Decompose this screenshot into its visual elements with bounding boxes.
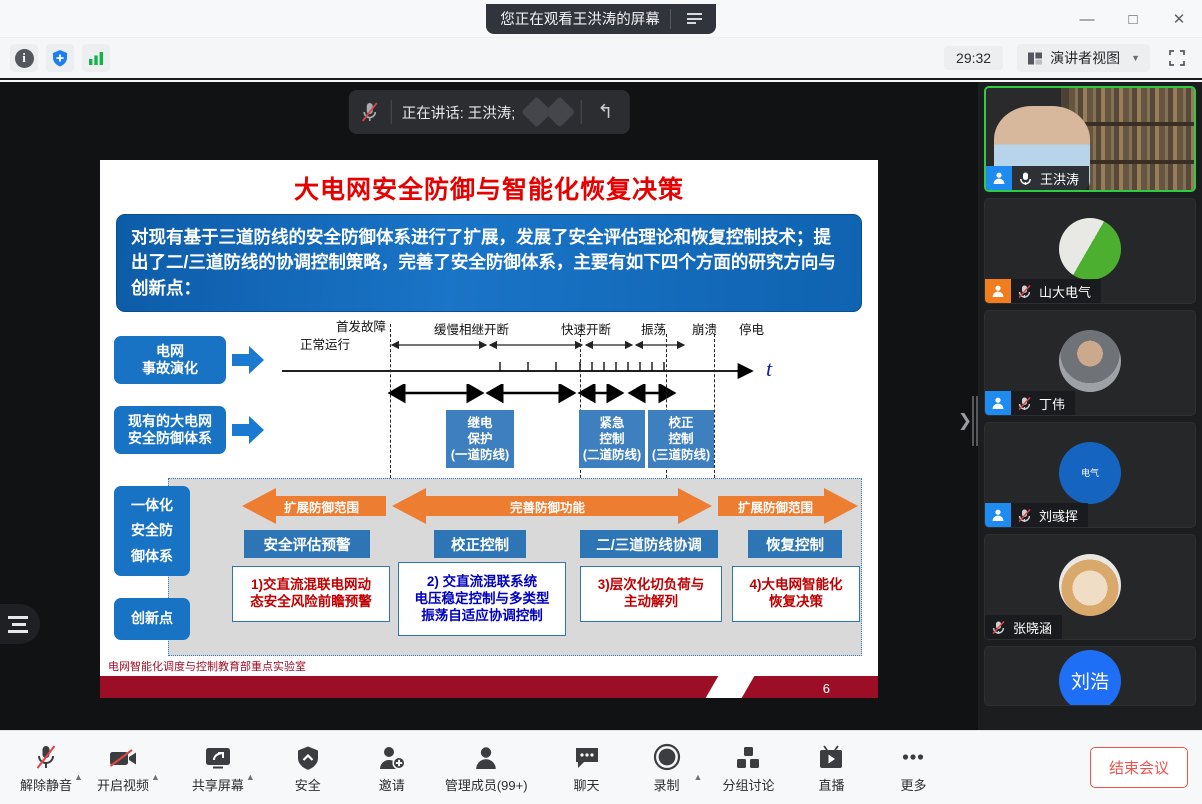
title-bar: 您正在观看王洪涛的屏幕 — □ ✕ bbox=[0, 0, 1202, 38]
slide-footer-lab: 电网智能化调度与控制教育部重点实验室 bbox=[108, 658, 306, 674]
chevron-right-icon: ❯ bbox=[958, 411, 972, 431]
divider bbox=[580, 100, 581, 124]
mic-muted-icon bbox=[33, 741, 59, 771]
defense-box-line: 校正 bbox=[668, 415, 693, 431]
toolbar-label: 开启视频 bbox=[97, 775, 149, 794]
more-icon bbox=[899, 741, 927, 771]
participant-name: 王洪涛 bbox=[1038, 169, 1089, 188]
record-icon bbox=[653, 741, 681, 771]
slide-footer-bar bbox=[100, 676, 878, 698]
defense-box-line: 保护 bbox=[467, 431, 492, 447]
label-line: 安全防御体系 bbox=[128, 430, 212, 448]
defense-box-relay-protection: 继电 保护 (一道防线) bbox=[446, 410, 514, 468]
innovation-item-2: 2) 交直流混联系统 电压稳定控制与多类型 振荡自适应协调控制 bbox=[398, 562, 566, 636]
participant-name: 山大电气 bbox=[1037, 282, 1101, 301]
mic-muted-icon bbox=[1011, 508, 1037, 523]
defense-box-line: (一道防线) bbox=[451, 447, 509, 463]
defense-box-corrective-control: 校正 控制 (三道防线) bbox=[648, 410, 714, 468]
label-line: 安全防 bbox=[131, 522, 173, 540]
info-icon: i bbox=[15, 49, 34, 68]
toolbar-label: 更多 bbox=[900, 775, 926, 794]
defense-box-line: (三道防线) bbox=[652, 447, 710, 463]
row-label-grid-evolution: 电网 事故演化 bbox=[114, 336, 226, 384]
slide-page-number: 6 bbox=[823, 681, 830, 696]
participant-name: 刘彧挥 bbox=[1037, 506, 1088, 525]
toolbar-label: 聊天 bbox=[574, 775, 600, 794]
maximize-button[interactable]: □ bbox=[1110, 0, 1156, 38]
mic-muted-icon bbox=[1011, 396, 1037, 411]
avatar bbox=[1059, 330, 1121, 392]
participants-icon bbox=[473, 741, 499, 771]
person-icon bbox=[985, 279, 1011, 303]
defense-box-line: 控制 bbox=[599, 431, 624, 447]
breakout-icon bbox=[734, 741, 762, 771]
participant-name-bar: 王洪涛 bbox=[986, 166, 1089, 190]
breakout-rooms-button[interactable]: 分组讨论 bbox=[716, 739, 780, 796]
meeting-info-button[interactable]: i bbox=[10, 44, 38, 72]
participant-name-bar: 刘彧挥 bbox=[985, 503, 1088, 527]
window-controls: — □ ✕ bbox=[1064, 0, 1202, 38]
chevron-down-icon: ▼ bbox=[1131, 53, 1140, 63]
diamonds-icon bbox=[525, 101, 570, 123]
divider bbox=[670, 9, 671, 29]
item-line: 振荡自适应协调控制 bbox=[421, 608, 543, 625]
toolbar-label: 管理成员(99+) bbox=[445, 775, 528, 794]
slide-title: 大电网安全防御与智能化恢复决策 bbox=[100, 170, 878, 206]
participant-tile[interactable]: 王洪涛 bbox=[984, 86, 1196, 192]
stage-range-arrows bbox=[290, 336, 810, 356]
video-options-caret[interactable]: ▲ bbox=[151, 772, 160, 782]
avatar bbox=[1059, 218, 1121, 280]
participant-name-bar: 张晓涵 bbox=[985, 615, 1062, 639]
section-header-safety-assessment: 安全评估预警 bbox=[244, 530, 370, 558]
toolbar-label: 安全 bbox=[295, 775, 321, 794]
section-header-line-coordination: 二/三道防线协调 bbox=[580, 530, 718, 558]
network-quality-button[interactable] bbox=[82, 44, 110, 72]
row-label-innovation-points: 创新点 bbox=[114, 598, 190, 640]
toolbar-label: 解除静音 bbox=[20, 775, 72, 794]
chat-icon bbox=[573, 741, 601, 771]
time-axis bbox=[282, 358, 782, 384]
avatar-text: 电气 bbox=[1081, 466, 1099, 479]
label-line: 一体化 bbox=[131, 497, 173, 515]
participant-tile[interactable]: 张晓涵 bbox=[984, 534, 1196, 640]
share-screen-button[interactable]: 共享屏幕 bbox=[186, 739, 250, 796]
orange-arrow-expand-scope-right: 扩展防御范围 bbox=[718, 488, 858, 524]
defense-box-emergency-control: 紧急 控制 (二道防线) bbox=[579, 410, 645, 468]
video-off-icon bbox=[108, 741, 138, 771]
item-line: 恢复决策 bbox=[769, 594, 823, 611]
meeting-sub-toolbar: i 29:32 演讲者视图 ▼ bbox=[0, 38, 1202, 80]
orange-arrow-improve-function: 完善防御功能 bbox=[392, 488, 712, 524]
innovation-item-1: 1)交直流混联电网动 态安全风险前瞻预警 bbox=[232, 566, 390, 622]
active-speaker-bar: 正在讲话: 王洪涛; ↰ bbox=[349, 90, 630, 134]
defense-box-line: 紧急 bbox=[599, 415, 624, 431]
view-mode-selector[interactable]: 演讲者视图 ▼ bbox=[1017, 44, 1150, 72]
close-button[interactable]: ✕ bbox=[1156, 0, 1202, 38]
time-axis-variable: t bbox=[766, 356, 772, 382]
fullscreen-icon bbox=[1167, 48, 1187, 68]
watching-screen-banner[interactable]: 您正在观看王洪涛的屏幕 bbox=[486, 4, 716, 34]
live-stream-button[interactable]: 直播 bbox=[800, 739, 862, 796]
meeting-timer: 29:32 bbox=[944, 46, 1003, 70]
label-line: 电网 bbox=[156, 343, 184, 361]
blue-arrow-icon bbox=[232, 416, 264, 444]
mic-options-caret[interactable]: ▲ bbox=[74, 772, 83, 782]
label-line: 创新点 bbox=[131, 610, 173, 628]
orange-arrow-label: 扩展防御范围 bbox=[284, 497, 359, 516]
innovation-item-3: 3)层次化切负荷与 主动解列 bbox=[580, 566, 722, 622]
participant-name: 张晓涵 bbox=[1011, 618, 1062, 637]
minimize-button[interactable]: — bbox=[1064, 0, 1110, 38]
avatar bbox=[1059, 554, 1121, 616]
participant-name: 丁伟 bbox=[1037, 394, 1075, 413]
item-line: 1)交直流混联电网动 bbox=[251, 577, 371, 594]
presentation-slide: 大电网安全防御与智能化恢复决策 对现有基于三道防线的安全防御体系进行了扩展，发展… bbox=[100, 160, 878, 698]
view-mode-label: 演讲者视图 bbox=[1050, 48, 1120, 68]
manage-participants-button[interactable]: 管理成员(99+) bbox=[439, 739, 534, 796]
divider bbox=[391, 100, 392, 124]
mic-icon bbox=[1012, 171, 1038, 186]
item-line: 2) 交直流混联系统 bbox=[427, 574, 537, 591]
shield-icon bbox=[295, 741, 321, 771]
unmute-button[interactable]: 解除静音 bbox=[14, 739, 78, 796]
avatar: 电气 bbox=[1059, 442, 1121, 504]
row-label-integrated-defense: 一体化 安全防 御体系 bbox=[114, 486, 190, 576]
orange-arrow-label: 扩展防御范围 bbox=[738, 497, 813, 516]
speaker-view-icon bbox=[1027, 51, 1043, 66]
zoom-meeting-window: 您正在观看王洪涛的屏幕 — □ ✕ i bbox=[0, 0, 1202, 804]
avatar: 刘浩 bbox=[1059, 650, 1121, 706]
share-screen-icon bbox=[203, 741, 233, 771]
label-line: 现有的大电网 bbox=[128, 413, 212, 431]
hamburger-icon[interactable] bbox=[681, 13, 708, 24]
participant-name-bar: 山大电气 bbox=[985, 279, 1101, 303]
shield-plus-icon bbox=[50, 48, 70, 68]
timeline-initial-fault-label: 首发故障 bbox=[336, 316, 386, 335]
encryption-shield-button[interactable] bbox=[46, 44, 74, 72]
person-icon bbox=[985, 503, 1011, 527]
toolbar-label: 分组讨论 bbox=[722, 775, 774, 794]
participant-tile[interactable]: 山大电气 bbox=[984, 198, 1196, 304]
toolbar-label: 录制 bbox=[654, 775, 680, 794]
invite-button[interactable]: 邀请 bbox=[361, 739, 423, 796]
participant-tile[interactable]: 电气 刘彧挥 bbox=[984, 422, 1196, 528]
footer-wedge bbox=[706, 676, 755, 698]
defense-range-arrows bbox=[282, 384, 782, 404]
label-line: 事故演化 bbox=[142, 360, 198, 378]
mic-muted-icon bbox=[1011, 284, 1037, 299]
participant-tile[interactable]: 丁伟 bbox=[984, 310, 1196, 416]
security-button[interactable]: 安全 bbox=[277, 739, 339, 796]
record-options-caret[interactable]: ▲ bbox=[694, 772, 703, 782]
collapse-rail-button[interactable]: ❯ bbox=[952, 398, 978, 444]
more-button[interactable]: 更多 bbox=[882, 739, 944, 796]
invite-icon bbox=[378, 741, 406, 771]
slide-diagram: 电网 事故演化 现有的大电网 安全防御体系 首发故障 正常运行 缓慢相继开断 bbox=[114, 318, 864, 663]
innovation-item-4: 4)大电网智能化 恢复决策 bbox=[732, 566, 860, 622]
person-icon bbox=[985, 391, 1011, 415]
participant-tile[interactable]: 刘浩 bbox=[984, 646, 1196, 706]
orange-arrow-expand-scope-left: 扩展防御范围 bbox=[242, 488, 386, 524]
participant-name-bar: 丁伟 bbox=[985, 391, 1075, 415]
slide-summary-box: 对现有基于三道防线的安全防御体系进行了扩展，发展了安全评估理论和恢复控制技术；提… bbox=[116, 214, 862, 312]
toolbar-label: 直播 bbox=[818, 775, 844, 794]
section-header-corrective-control: 校正控制 bbox=[434, 530, 526, 558]
label-line: 御体系 bbox=[131, 548, 173, 566]
list-icon[interactable] bbox=[0, 604, 40, 644]
back-arrow-icon[interactable]: ↰ bbox=[591, 101, 619, 124]
blue-arrow-icon bbox=[232, 346, 264, 374]
record-button[interactable]: 录制 bbox=[636, 739, 698, 796]
item-line: 4)大电网智能化 bbox=[749, 577, 842, 594]
person-icon bbox=[986, 166, 1012, 190]
avatar-text: 刘浩 bbox=[1071, 667, 1109, 694]
toolbar-label: 共享屏幕 bbox=[192, 775, 244, 794]
live-icon bbox=[817, 741, 845, 771]
item-line: 态安全风险前瞻预警 bbox=[250, 594, 372, 611]
defense-box-line: 继电 bbox=[467, 415, 492, 431]
participants-rail[interactable]: 王洪涛 山大电气 bbox=[978, 82, 1202, 730]
defense-box-line: (二道防线) bbox=[583, 447, 641, 463]
chat-button[interactable]: 聊天 bbox=[556, 739, 618, 796]
shared-screen-stage: 正在讲话: 王洪涛; ↰ 大电网安全防御与智能化恢复决策 对现有基于三道防线的安… bbox=[0, 82, 978, 730]
defense-box-line: 控制 bbox=[668, 431, 693, 447]
item-line: 主动解列 bbox=[624, 594, 678, 611]
meeting-toolbar: 解除静音 ▲ 开启视频 ▲ 共享屏幕 ▲ 安全 邀请 bbox=[0, 730, 1202, 804]
end-meeting-button[interactable]: 结束会议 bbox=[1090, 747, 1188, 788]
row-label-existing-defense: 现有的大电网 安全防御体系 bbox=[114, 406, 226, 454]
orange-arrow-label: 完善防御功能 bbox=[510, 497, 585, 516]
mic-muted-icon bbox=[359, 100, 381, 124]
start-video-button[interactable]: 开启视频 bbox=[91, 739, 155, 796]
speaking-label: 正在讲话: 王洪涛; bbox=[402, 102, 516, 123]
watching-screen-label: 您正在观看王洪涛的屏幕 bbox=[500, 8, 660, 29]
section-header-restoration-control: 恢复控制 bbox=[748, 530, 842, 558]
signal-bars-icon bbox=[86, 49, 106, 67]
item-line: 3)层次化切负荷与 bbox=[598, 577, 705, 594]
fullscreen-button[interactable] bbox=[1162, 44, 1192, 72]
share-options-caret[interactable]: ▲ bbox=[246, 772, 255, 782]
item-line: 电压稳定控制与多类型 bbox=[415, 591, 550, 608]
toolbar-label: 邀请 bbox=[379, 775, 405, 794]
mic-muted-icon bbox=[985, 620, 1011, 635]
